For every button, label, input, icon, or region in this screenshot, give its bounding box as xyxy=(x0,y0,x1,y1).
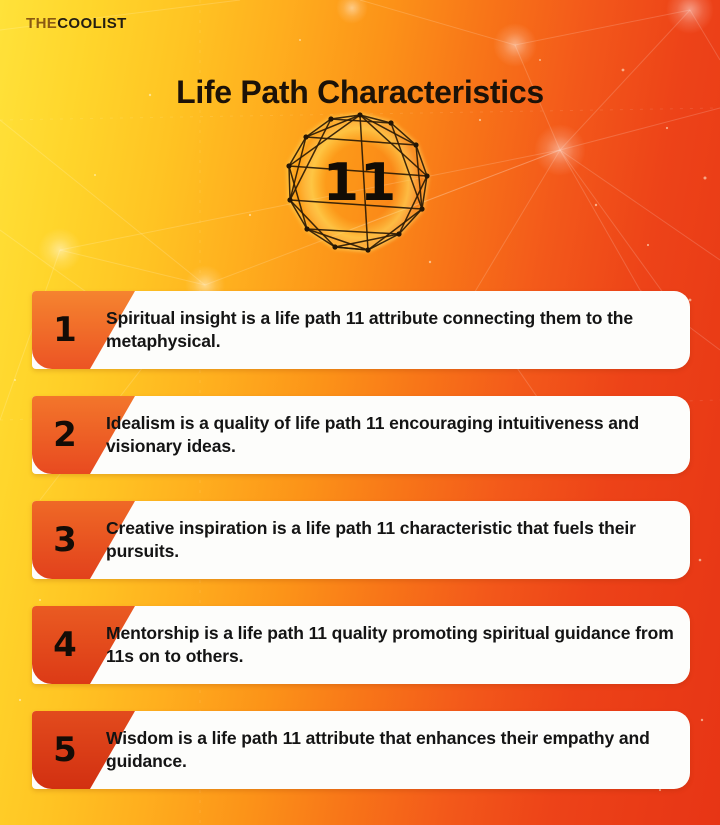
life-path-emblem: 11 xyxy=(280,108,440,258)
item-number: 2 xyxy=(32,418,98,452)
text-before: Idealism is a quality of life path xyxy=(106,413,366,433)
list-item: 2 Idealism is a quality of life path 11 … xyxy=(0,396,720,474)
list-item: 1 Spiritual insight is a life path 11 at… xyxy=(0,291,720,369)
highlight-number: 11 xyxy=(346,308,364,328)
text-before: Wisdom is a life path xyxy=(106,728,283,748)
item-number: 3 xyxy=(32,523,98,557)
characteristics-list: 1 Spiritual insight is a life path 11 at… xyxy=(0,291,720,816)
page-title: Life Path Characteristics xyxy=(0,76,720,108)
characteristic-text: Idealism is a quality of life path 11 en… xyxy=(106,412,702,458)
characteristic-text: Mentorship is a life path 11 quality pro… xyxy=(106,622,702,668)
item-number: 1 xyxy=(32,313,98,347)
brand-logo-the: THE xyxy=(26,15,57,32)
list-item: 5 Wisdom is a life path 11 attribute tha… xyxy=(0,711,720,789)
list-item: 4 Mentorship is a life path 11 quality p… xyxy=(0,606,720,684)
infographic-poster: THECOOLIST Life Path Characteristics xyxy=(0,0,720,825)
characteristic-text: Wisdom is a life path 11 attribute that … xyxy=(106,727,702,773)
highlight-number: 11 xyxy=(283,728,301,748)
item-number: 4 xyxy=(32,628,98,662)
list-item: 3 Creative inspiration is a life path 11… xyxy=(0,501,720,579)
characteristic-text: Spiritual insight is a life path 11 attr… xyxy=(106,307,702,353)
text-before: Creative inspiration is a life path xyxy=(106,518,377,538)
text-before: Spiritual insight is a life path xyxy=(106,308,346,328)
characteristic-text: Creative inspiration is a life path 11 c… xyxy=(106,517,702,563)
brand-logo[interactable]: THECOOLIST xyxy=(26,16,127,31)
item-number: 5 xyxy=(32,733,98,767)
highlight-number: 11 xyxy=(309,623,327,643)
highlight-number: 11 xyxy=(366,413,384,433)
emblem-number: 11 xyxy=(280,157,440,209)
brand-logo-name: COOLIST xyxy=(57,15,126,32)
text-before: Mentorship is a life path xyxy=(106,623,309,643)
highlight-number: 11 xyxy=(377,518,395,538)
